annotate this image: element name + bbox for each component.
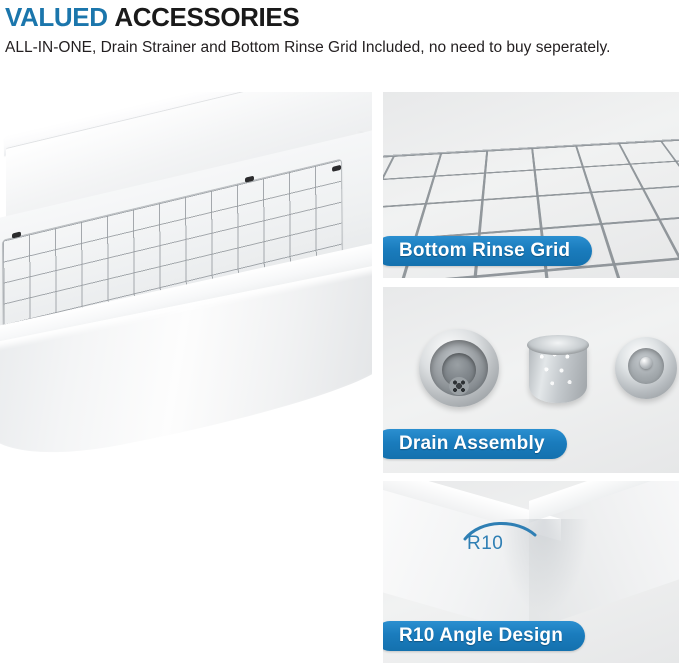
header: VALUED ACCESSORIES ALL-IN-ONE, Drain Str… <box>5 0 675 58</box>
panel-r10-angle-design: R10 R10 Angle Design <box>383 481 679 663</box>
basket-rim <box>527 335 589 355</box>
strainer-basket-part <box>527 335 589 407</box>
cap-knob <box>640 357 652 369</box>
r10-annotation-label: R10 <box>467 533 503 555</box>
banner-r10-angle-design: R10 Angle Design <box>383 621 585 651</box>
page-title-highlight: VALUED <box>5 2 108 32</box>
r10-annotation: R10 <box>461 517 539 563</box>
banner-bottom-rinse-grid: Bottom Rinse Grid <box>383 236 592 266</box>
flange-drain-holes <box>449 377 469 395</box>
page-subtitle: ALL-IN-ONE, Drain Strainer and Bottom Ri… <box>5 37 665 58</box>
panel-bottom-rinse-grid: Bottom Rinse Grid <box>383 92 679 278</box>
hero-product-image <box>0 92 372 492</box>
page-title: VALUED ACCESSORIES <box>5 2 675 32</box>
panel-drain-assembly: Drain Assembly <box>383 287 679 473</box>
banner-label: R10 Angle Design <box>399 625 563 647</box>
banner-label: Bottom Rinse Grid <box>399 240 570 262</box>
stopper-cap-part <box>615 337 677 399</box>
hero-stage <box>0 92 372 492</box>
page-title-rest: ACCESSORIES <box>114 2 299 32</box>
banner-label: Drain Assembly <box>399 433 545 455</box>
banner-drain-assembly: Drain Assembly <box>383 429 567 459</box>
drain-flange-part <box>419 329 499 407</box>
